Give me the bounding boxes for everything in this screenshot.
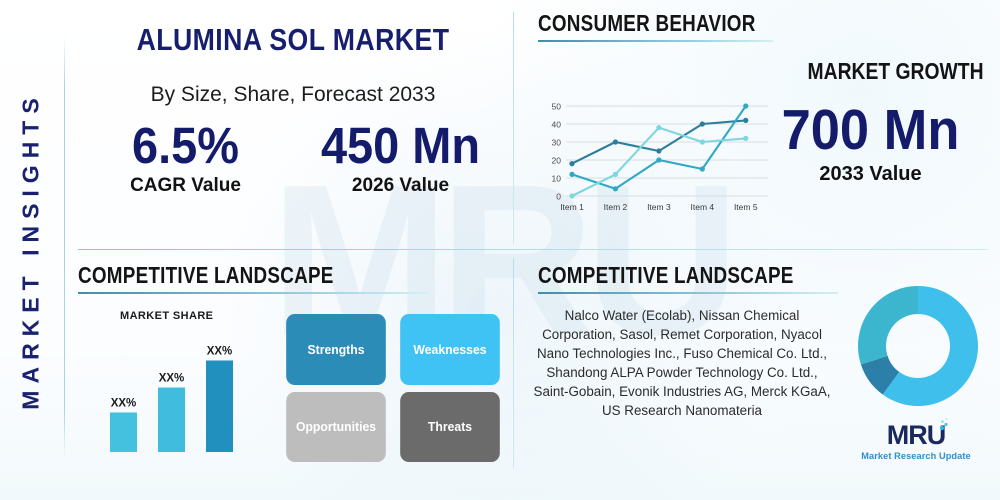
company-list: Nalco Water (Ecolab), Nissan Chemical Co… <box>532 306 832 420</box>
swot-weaknesses-label: Weaknesses <box>413 342 486 357</box>
market-growth-stat: 700 Mn 2033 Value <box>763 102 978 186</box>
swot-opportunities-label: Opportunities <box>296 419 376 434</box>
competitive-landscape-right-panel: COMPETITIVE LANDSCAPE Nalco Water (Ecola… <box>538 262 988 472</box>
stat-cagr: 6.5% CAGR Value <box>78 119 293 197</box>
swot-grid: Strengths Weaknesses Opportunities Threa… <box>283 314 503 462</box>
svg-text:0: 0 <box>556 192 561 202</box>
competitive-landscape-left-panel: COMPETITIVE LANDSCAPE MARKET SHARE XX%XX… <box>78 262 508 472</box>
consumer-behavior-heading: CONSUMER BEHAVIOR <box>538 10 731 37</box>
stat-2026-value: 450 Mn <box>302 119 500 173</box>
competitive-left-heading: COMPETITIVE LANDSCAPE <box>78 262 365 289</box>
svg-text:Item 3: Item 3 <box>647 202 671 212</box>
mru-logo-mark: MRU <box>887 422 946 449</box>
svg-text:Item 1: Item 1 <box>560 202 584 212</box>
page-title: ALUMINA SOL MARKET <box>108 22 478 58</box>
bubbles-icon <box>938 417 950 431</box>
consumer-behavior-line-chart: 01020304050Item 1Item 2Item 3Item 4Item … <box>540 98 775 223</box>
mru-logo-tagline: Market Research Update <box>852 451 980 461</box>
stat-2026: 450 Mn 2026 Value <box>293 119 508 197</box>
svg-text:50: 50 <box>552 102 562 112</box>
swot-opportunities[interactable]: Opportunities <box>286 392 386 463</box>
svg-text:Item 2: Item 2 <box>604 202 628 212</box>
svg-text:10: 10 <box>552 174 562 184</box>
divider-vertical-main <box>64 35 65 460</box>
sidebar-market-insights: MARKET INSIGHTS <box>0 0 62 500</box>
divider-horizontal-main <box>78 249 988 250</box>
stat-2026-label: 2026 Value <box>293 175 508 197</box>
hero-panel: ALUMINA SOL MARKET By Size, Share, Forec… <box>78 10 508 245</box>
competitive-right-heading: COMPETITIVE LANDSCAPE <box>538 262 784 289</box>
sidebar-label: MARKET INSIGHTS <box>18 91 45 409</box>
svg-text:30: 30 <box>552 138 562 148</box>
swot-weaknesses[interactable]: Weaknesses <box>400 314 500 385</box>
market-share-bar-chart: XX%XX%XX% <box>100 324 280 459</box>
svg-text:Item 5: Item 5 <box>734 202 758 212</box>
market-growth-heading: MARKET GROWTH <box>808 58 984 85</box>
swot-threats[interactable]: Threats <box>400 392 500 463</box>
bar-chart-svg: XX%XX%XX% <box>100 324 280 459</box>
divider-vertical-bottom <box>513 258 514 468</box>
swot-threats-label: Threats <box>428 419 472 434</box>
hero-stat-group: 6.5% CAGR Value 450 Mn 2026 Value <box>78 119 508 197</box>
market-growth-value: 700 Mn <box>772 102 970 159</box>
line-chart-svg: 01020304050Item 1Item 2Item 3Item 4Item … <box>540 98 775 223</box>
swot-strengths-label: Strengths <box>307 342 364 357</box>
consumer-behavior-rule <box>538 40 773 42</box>
svg-text:40: 40 <box>552 120 562 130</box>
market-growth-label: 2033 Value <box>763 163 978 186</box>
competitive-right-rule <box>538 292 838 294</box>
hero-subtitle: By Size, Share, Forecast 2033 <box>78 83 508 107</box>
market-share-title: MARKET SHARE <box>120 310 213 322</box>
svg-text:XX%: XX% <box>207 345 233 357</box>
mru-logo-text: MRU <box>887 420 946 450</box>
swot-strengths[interactable]: Strengths <box>286 314 386 385</box>
svg-text:XX%: XX% <box>111 397 137 409</box>
mru-logo: MRU Market Research Update <box>852 422 980 461</box>
divider-vertical-top <box>513 12 514 244</box>
competitive-left-rule <box>78 292 428 294</box>
svg-text:Item 4: Item 4 <box>691 202 715 212</box>
svg-text:XX%: XX% <box>159 373 185 385</box>
stat-cagr-value: 6.5% <box>87 119 285 173</box>
consumer-behavior-panel: CONSUMER BEHAVIOR MARKET GROWTH 700 Mn 2… <box>538 10 988 245</box>
svg-text:20: 20 <box>552 156 562 166</box>
market-share-donut-chart <box>854 282 982 410</box>
donut-chart-svg <box>854 282 982 410</box>
stat-cagr-label: CAGR Value <box>78 175 293 197</box>
